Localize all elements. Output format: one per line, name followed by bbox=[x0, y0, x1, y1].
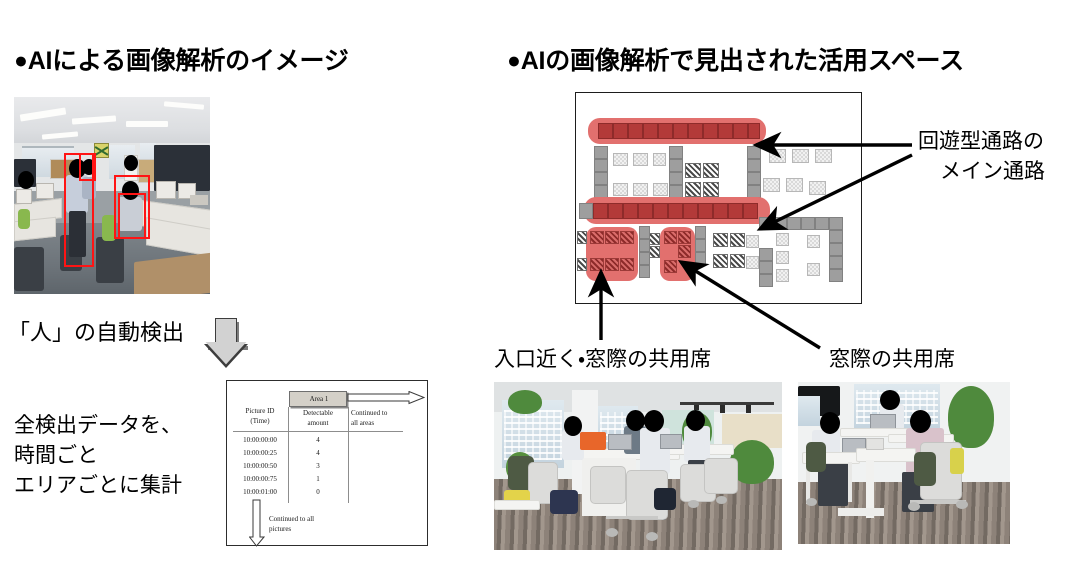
shared-desk bbox=[590, 258, 604, 271]
photo-bag-orange bbox=[580, 432, 606, 450]
desk-hatched bbox=[703, 163, 719, 178]
desk bbox=[776, 269, 789, 282]
photo-laptop bbox=[660, 434, 682, 449]
desk-hatched bbox=[730, 233, 745, 247]
col-amount-line2: amount bbox=[289, 419, 347, 427]
desk-hatched bbox=[685, 163, 701, 178]
photo-monitor bbox=[36, 183, 54, 199]
face-mask-icon bbox=[18, 171, 34, 189]
office-floorplan bbox=[575, 92, 862, 304]
desk bbox=[669, 172, 683, 185]
desk bbox=[695, 226, 706, 239]
corridor-desk bbox=[628, 123, 643, 139]
desk bbox=[769, 149, 786, 163]
photo-person bbox=[684, 426, 710, 462]
corridor-desk bbox=[718, 123, 733, 139]
desk bbox=[653, 153, 666, 166]
desk bbox=[594, 172, 608, 185]
corridor-desk bbox=[613, 123, 628, 139]
down-arrow-icon bbox=[204, 318, 248, 370]
desk-hatched bbox=[730, 254, 745, 268]
photo-plant bbox=[508, 390, 542, 414]
desk bbox=[829, 269, 843, 282]
desk bbox=[639, 226, 650, 239]
corridor-desk bbox=[658, 123, 673, 139]
continue-down-line2: pictures bbox=[269, 525, 291, 533]
photo-chair-green bbox=[914, 452, 936, 486]
window-shared-seating-photo bbox=[798, 382, 1010, 544]
desk bbox=[746, 256, 759, 269]
photo-chair-green bbox=[806, 442, 826, 472]
caption-window: 窓際の共用席 bbox=[829, 346, 955, 374]
photo-laptop bbox=[608, 434, 632, 450]
desk bbox=[747, 159, 761, 172]
arrow-head bbox=[204, 344, 248, 370]
entrance-shared-seating-photo bbox=[494, 382, 782, 550]
cell-amount: 4 bbox=[289, 449, 347, 457]
chair-wheel bbox=[908, 502, 920, 511]
photo-bag bbox=[550, 490, 578, 514]
col-picture-id-line1: Picture ID bbox=[233, 407, 287, 415]
desk-hatched bbox=[649, 233, 660, 245]
desk bbox=[829, 243, 843, 256]
corridor-desk bbox=[728, 203, 743, 219]
photo-desk bbox=[856, 448, 916, 462]
left-section-heading: ●AIによる画像解析のイメージ bbox=[14, 48, 349, 76]
cell-amount: 3 bbox=[289, 462, 347, 470]
corridor-annotation-line1: 回遊型通路の bbox=[918, 128, 1044, 156]
photo-chair-green bbox=[18, 209, 30, 229]
desk bbox=[747, 172, 761, 185]
desk bbox=[807, 235, 820, 248]
photo-chair bbox=[14, 247, 44, 291]
photo-cushion-yellow bbox=[950, 448, 964, 474]
desk bbox=[776, 233, 789, 246]
office-detection-photo bbox=[14, 97, 210, 294]
desk bbox=[594, 159, 608, 172]
corridor-desk bbox=[598, 123, 613, 139]
photo-bag bbox=[654, 488, 676, 510]
chair-wheel bbox=[716, 496, 727, 504]
photo-monitor bbox=[156, 181, 176, 199]
ceiling-track-light bbox=[746, 405, 751, 413]
ceiling-light bbox=[126, 121, 168, 127]
ceiling-track-light bbox=[720, 405, 725, 413]
window-frame bbox=[22, 146, 74, 148]
desk bbox=[763, 178, 780, 192]
shared-desk bbox=[605, 231, 619, 244]
arrow-shaft bbox=[215, 318, 237, 345]
continue-right-arrow-icon bbox=[347, 391, 425, 405]
desk bbox=[613, 183, 628, 196]
right-section-heading: ●AIの画像解析で見出された活用スペース bbox=[507, 48, 964, 76]
desk bbox=[653, 183, 668, 196]
desk bbox=[759, 274, 773, 287]
corridor-desk bbox=[608, 203, 623, 219]
face-mask-icon bbox=[124, 155, 138, 171]
shared-desk bbox=[678, 231, 691, 244]
desk-hatched bbox=[577, 258, 587, 271]
caution-sign-icon bbox=[94, 143, 109, 158]
desk bbox=[776, 251, 789, 264]
continue-right-line2: all areas bbox=[351, 419, 374, 427]
desk bbox=[801, 217, 815, 230]
desk bbox=[786, 178, 803, 192]
desk-hatched bbox=[577, 231, 587, 244]
corridor-desk bbox=[703, 123, 718, 139]
desk bbox=[787, 217, 801, 230]
photo-monitor bbox=[16, 189, 32, 204]
desk bbox=[633, 183, 648, 196]
corridor-desk bbox=[698, 203, 713, 219]
corridor-desk bbox=[748, 123, 760, 139]
desk bbox=[807, 263, 820, 276]
desk bbox=[759, 217, 773, 230]
corridor-desk bbox=[638, 203, 653, 219]
continue-right-line1: Continued to bbox=[351, 409, 387, 417]
area-header-cell: Area 1 bbox=[289, 391, 347, 407]
shared-desk bbox=[664, 231, 677, 244]
aggregate-label-line3: エリアごとに集計 bbox=[14, 472, 182, 500]
arrow-head-fill bbox=[206, 342, 247, 364]
aggregate-label-line2: 時間ごと bbox=[14, 442, 98, 470]
chair-wheel bbox=[606, 528, 618, 537]
caption-entrance: 入口近く・窓際の共用席 bbox=[494, 346, 711, 374]
desk bbox=[669, 159, 683, 172]
shared-desk bbox=[678, 245, 691, 258]
area-header-label: Area 1 bbox=[290, 395, 348, 403]
desk bbox=[773, 217, 787, 230]
photo-window bbox=[798, 396, 820, 426]
desk-hatched bbox=[713, 233, 728, 247]
corridor-desk bbox=[688, 123, 703, 139]
desk bbox=[669, 146, 683, 159]
continue-down-line1: Continued to all bbox=[269, 515, 314, 523]
corridor-desk bbox=[743, 203, 758, 219]
desk bbox=[815, 217, 829, 230]
photo-desk bbox=[494, 500, 540, 510]
face-mask-icon bbox=[820, 412, 840, 434]
desk-leg bbox=[838, 508, 884, 516]
desk-hatched bbox=[713, 254, 728, 268]
corridor-desk bbox=[653, 203, 668, 219]
desk bbox=[809, 181, 826, 195]
desk bbox=[594, 146, 608, 159]
col-picture-id-line2: (Time) bbox=[233, 417, 287, 425]
face-mask-icon bbox=[880, 390, 900, 410]
cell-time: 10:00:01:00 bbox=[233, 488, 287, 496]
photo-chair bbox=[96, 237, 124, 283]
desk-hatched bbox=[685, 182, 701, 197]
detection-box bbox=[118, 193, 146, 239]
face-mask-icon bbox=[910, 410, 931, 433]
shared-desk bbox=[620, 258, 634, 271]
desk bbox=[792, 149, 809, 163]
table-col-divider bbox=[348, 407, 349, 503]
shared-desk bbox=[664, 260, 677, 273]
corridor-desk bbox=[683, 203, 698, 219]
corridor-desk bbox=[623, 203, 638, 219]
photo-chair bbox=[704, 458, 738, 494]
detection-data-table: Area 1 Picture ID (Time) Detectable amou… bbox=[226, 380, 428, 546]
desk bbox=[639, 265, 650, 278]
shared-desk bbox=[590, 231, 604, 244]
face-mask-icon bbox=[644, 410, 664, 432]
photo-plant bbox=[948, 386, 994, 448]
detection-box bbox=[79, 153, 96, 181]
desk bbox=[695, 252, 706, 265]
desk bbox=[829, 230, 843, 243]
photo-equipment bbox=[190, 195, 208, 205]
shared-desk bbox=[605, 258, 619, 271]
cell-amount: 1 bbox=[289, 475, 347, 483]
desk bbox=[746, 235, 759, 248]
chair-wheel bbox=[806, 498, 817, 506]
desk bbox=[579, 203, 593, 219]
aggregate-label-line1: 全検出データを、 bbox=[14, 412, 182, 440]
desk bbox=[633, 153, 648, 166]
chair-wheel bbox=[956, 500, 968, 509]
bullet-icon: ● bbox=[507, 47, 521, 73]
corridor-desk bbox=[668, 203, 683, 219]
desk bbox=[829, 256, 843, 269]
desk-hatched bbox=[649, 246, 660, 258]
corridor-desk bbox=[593, 203, 608, 219]
right-heading-text: AIの画像解析で見出された活用スペース bbox=[521, 47, 964, 75]
corridor-desk bbox=[643, 123, 658, 139]
chair-wheel bbox=[688, 500, 699, 508]
corridor-desk bbox=[733, 123, 748, 139]
desk bbox=[829, 217, 843, 230]
cell-time: 10:00:00:50 bbox=[233, 462, 287, 470]
desk bbox=[815, 149, 832, 163]
window-building-view bbox=[504, 410, 562, 460]
cell-time: 10:00:00:25 bbox=[233, 449, 287, 457]
col-amount-line1: Detectable bbox=[289, 409, 347, 417]
corridor-desk bbox=[713, 203, 728, 219]
photo-phone bbox=[866, 438, 884, 450]
corridor-desk bbox=[673, 123, 688, 139]
cell-amount: 0 bbox=[289, 488, 347, 496]
cell-amount: 4 bbox=[289, 436, 347, 444]
chair-wheel bbox=[646, 532, 658, 541]
shared-desk bbox=[620, 231, 634, 244]
photo-chair bbox=[590, 466, 626, 504]
face-mask-icon bbox=[686, 410, 705, 431]
desk bbox=[639, 239, 650, 252]
desk bbox=[759, 248, 773, 261]
chair-base bbox=[606, 516, 658, 519]
continue-down-arrow-icon bbox=[249, 499, 265, 547]
detection-label: 「人」の自動検出 bbox=[8, 318, 184, 347]
table-header-rule bbox=[233, 431, 403, 432]
desk-leg bbox=[848, 462, 852, 502]
cell-time: 10:00:00:75 bbox=[233, 475, 287, 483]
desk bbox=[613, 153, 628, 166]
corridor-annotation-line2: メイン通路 bbox=[940, 158, 1045, 186]
desk-hatched bbox=[703, 182, 719, 197]
desk bbox=[759, 261, 773, 274]
desk bbox=[695, 239, 706, 252]
bullet-icon: ● bbox=[14, 47, 28, 73]
cell-time: 10:00:00:00 bbox=[233, 436, 287, 444]
desk bbox=[639, 252, 650, 265]
left-heading-text: AIによる画像解析のイメージ bbox=[28, 47, 349, 75]
desk bbox=[747, 146, 761, 159]
